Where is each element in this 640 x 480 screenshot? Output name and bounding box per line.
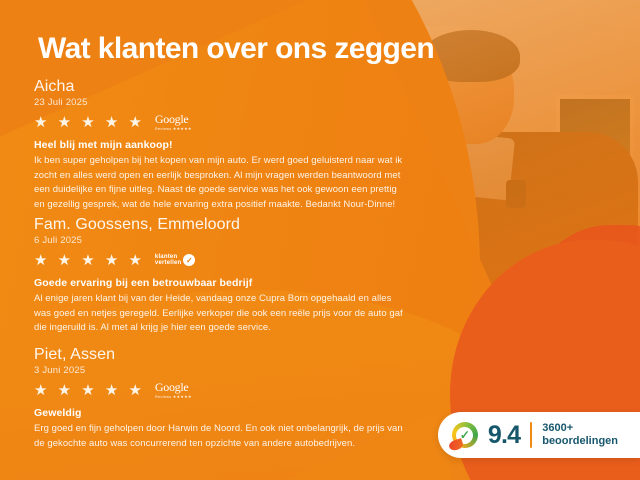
rating-count: 3600+ [542, 422, 618, 435]
google-reviews-subtitle: Reviews ★★★★★ [155, 394, 192, 399]
review-card: Fam. Goossens, Emmeloord 6 Juli 2025 ★ ★… [34, 216, 424, 336]
rating-count-label: beoordelingen [542, 435, 618, 448]
klantenvertellen-wordmark: klanten vertellen [155, 254, 181, 267]
reviewer-name: Fam. Goossens, Emmeloord [34, 216, 424, 234]
review-body: Ik ben super geholpen bij het kopen van … [34, 154, 409, 212]
review-card: Aicha 23 Juli 2025 ★ ★ ★ ★ ★ Google Revi… [34, 78, 424, 212]
rating-score: 9.4 [488, 423, 520, 448]
review-meta: ★ ★ ★ ★ ★ Google Reviews ★★★★★ [34, 112, 424, 132]
google-reviews-logo: Google Reviews ★★★★★ [155, 381, 192, 399]
review-title: Geweldig [34, 407, 424, 419]
star-rating-icon: ★ ★ ★ ★ ★ [34, 383, 145, 398]
review-body: Al enige jaren klant bij van der Heide, … [34, 292, 409, 335]
google-wordmark: Google [155, 381, 189, 393]
reviewer-name: Aicha [34, 78, 424, 96]
kiyoh-check-icon: ✓ [452, 422, 478, 448]
review-date: 3 Juni 2025 [34, 365, 424, 376]
review-meta: ★ ★ ★ ★ ★ Google Reviews ★★★★★ [34, 380, 424, 400]
badge-divider [530, 422, 532, 448]
kiyoh-swoosh [448, 438, 464, 452]
checkmark-circle-icon: ✓ [183, 254, 195, 266]
review-date: 23 Juli 2025 [34, 97, 424, 108]
review-title: Goede ervaring bij een betrouwbaar bedri… [34, 277, 424, 289]
review-date: 6 Juli 2025 [34, 235, 424, 246]
google-reviews-subtitle: Reviews ★★★★★ [155, 126, 192, 131]
content-layer: Wat klanten over ons zeggen Aicha 23 Jul… [0, 0, 640, 480]
google-wordmark: Google [155, 113, 189, 125]
klantenvertellen-line2: vertellen [155, 260, 181, 266]
overall-rating-badge: ✓ 9.4 3600+ beoordelingen [438, 412, 640, 458]
rating-count-block: 3600+ beoordelingen [542, 422, 618, 448]
review-title: Heel blij met mijn aankoop! [34, 139, 424, 151]
review-card: Piet, Assen 3 Juni 2025 ★ ★ ★ ★ ★ Google… [34, 346, 424, 451]
star-rating-icon: ★ ★ ★ ★ ★ [34, 115, 145, 130]
review-body: Erg goed en fijn geholpen door Harwin de… [34, 422, 409, 451]
page-title: Wat klanten over ons zeggen [38, 33, 434, 65]
review-meta: ★ ★ ★ ★ ★ klanten vertellen ✓ [34, 250, 424, 270]
google-reviews-logo: Google Reviews ★★★★★ [155, 113, 192, 131]
poster-canvas: VDH Wat klanten over ons zeggen Aicha 23… [0, 0, 640, 480]
reviewer-name: Piet, Assen [34, 346, 424, 364]
klantenvertellen-logo: klanten vertellen ✓ [155, 254, 195, 267]
star-rating-icon: ★ ★ ★ ★ ★ [34, 253, 145, 268]
